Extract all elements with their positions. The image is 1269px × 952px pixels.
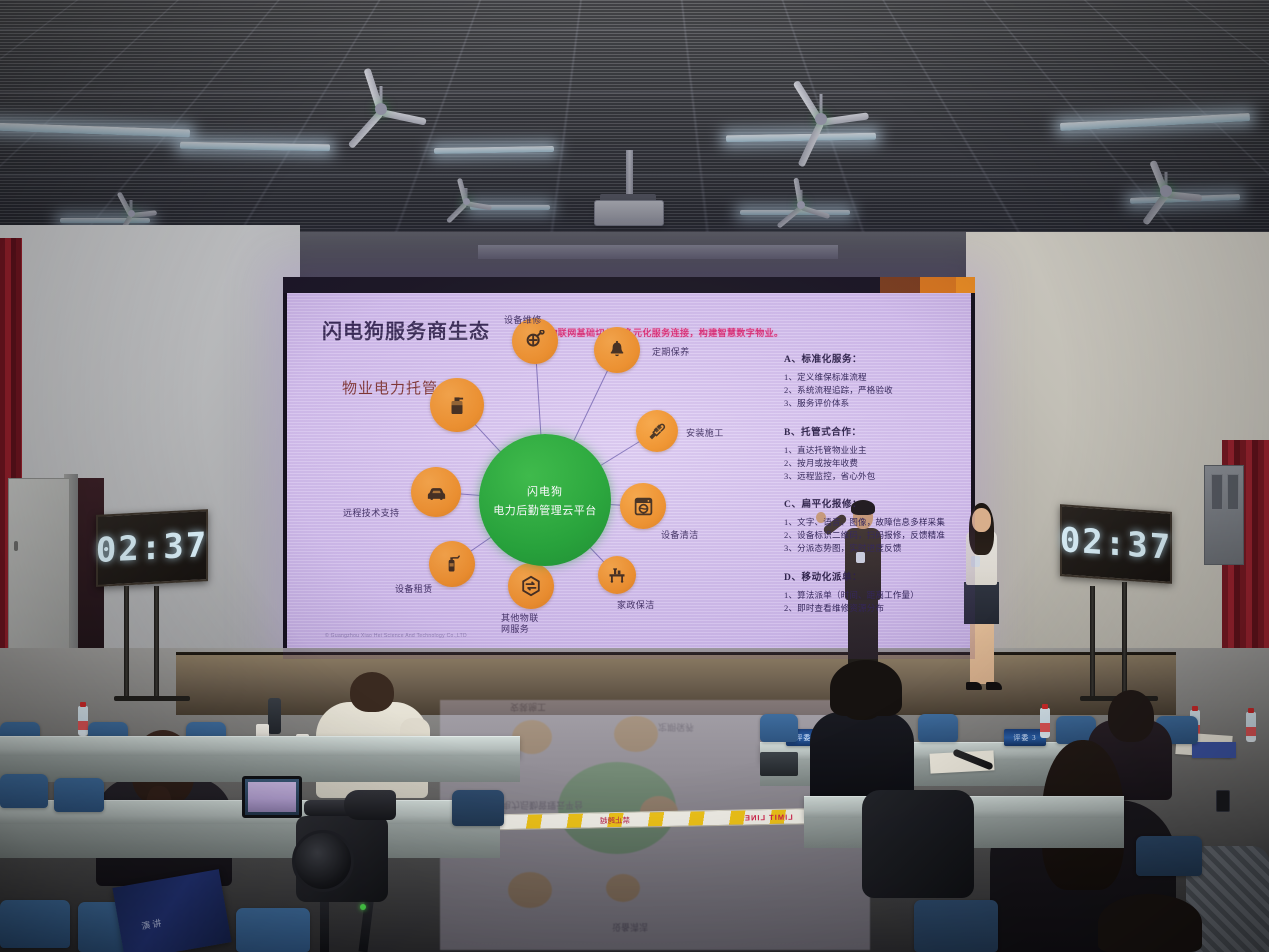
- presenter-female-badge: [971, 556, 980, 567]
- tripod-leg: [320, 894, 329, 952]
- slide-text-block-heading: D、移动化派单：: [784, 569, 964, 583]
- presenter-female-legs: [970, 622, 994, 684]
- clock-stand-leg: [1122, 582, 1127, 696]
- reflection-node: [606, 874, 640, 902]
- ceiling-fan: [130, 212, 132, 214]
- presenter-female-head: [972, 508, 991, 532]
- auditorium-chair[interactable]: [0, 900, 70, 948]
- paint-brush-icon: [647, 421, 667, 441]
- service-node-paint-brush-icon: [636, 410, 678, 452]
- slide-topbar-block: [880, 277, 920, 293]
- slide-text-block-line: 3、远程监控，省心外包: [784, 470, 964, 483]
- audience-hair: [830, 660, 902, 716]
- auditorium-chair[interactable]: [452, 790, 504, 826]
- auditorium-chair[interactable]: [1136, 836, 1202, 876]
- slide-text-block-line: 1、算法派单（时间、距离工作量）: [784, 589, 964, 602]
- water-bottle: [1246, 712, 1256, 742]
- service-node-label: 设备清洁: [661, 530, 699, 541]
- slide-text-block-line: 3、分派态势图，实时进度反馈: [784, 542, 964, 555]
- fire-extinguisher-icon: [442, 554, 462, 574]
- wall-cabinet: [8, 478, 70, 658]
- event-banner-text: 演讲: [140, 916, 164, 933]
- ceiling-fan: [820, 118, 822, 120]
- service-node-car-icon: [411, 467, 461, 517]
- slide-text-block-line: 1、文字、语音、图像，故障信息多样采集: [784, 516, 964, 529]
- hub-spoke-line: [536, 362, 542, 436]
- presenter-female-shoe: [986, 682, 1002, 690]
- service-node-label: 家政保洁: [617, 600, 655, 611]
- slide-text-block: A、标准化服务：1、定义维保标准流程2、系统流程追踪，严格验收3、服务评价体系: [784, 351, 964, 411]
- camera-viewfinder: [344, 790, 396, 820]
- ceiling: [0, 0, 1269, 248]
- hub-line-1: 闪电狗: [527, 483, 563, 499]
- audience-desk: [0, 736, 520, 758]
- right-wall-panel: [1204, 465, 1244, 565]
- auditorium-chair[interactable]: [0, 774, 48, 808]
- clock-time-left: 02:37: [96, 525, 208, 571]
- reflection-label: 安装施工: [510, 701, 546, 714]
- limit-line-text-cn: 禁止跨越: [600, 814, 630, 826]
- video-camera: [268, 756, 418, 952]
- slide-topbar-block: [920, 277, 956, 293]
- washing-machine-icon: [633, 496, 654, 517]
- slide-text-block-line: 2、系统流程追踪，严格验收: [784, 384, 964, 397]
- slide-text-block-heading: C、扁平化报修：: [784, 496, 964, 510]
- service-node-ink-bottle-icon: [430, 378, 484, 432]
- camera-lcd-preview: [248, 782, 296, 812]
- slide-text-column: A、标准化服务：1、定义维保标准流程2、系统流程追踪，严格验收3、服务评价体系B…: [784, 351, 964, 628]
- hub-spoke-line: [599, 441, 641, 467]
- auditorium-chair[interactable]: [760, 714, 798, 742]
- service-node-label: 安装施工: [686, 428, 724, 439]
- slide-text-block-line: 1、直达托管物业业主: [784, 444, 964, 457]
- slide-subtitle: 以物联网基础切入，多元化服务连接，构建智慧数字物业。: [539, 326, 783, 339]
- slide-text-block-line: 1、定义维保标准流程: [784, 371, 964, 384]
- slide-text-block: D、移动化派单：1、算法派单（时间、距离工作量）2、即时查看维修资源分布: [784, 569, 964, 615]
- auditorium-chair[interactable]: [918, 714, 958, 742]
- clock-stand-leg: [124, 586, 129, 696]
- screen-soffit: [478, 245, 838, 259]
- slide-title: 闪电狗服务商生态: [322, 315, 490, 344]
- service-node-bell-icon: [594, 327, 640, 373]
- document-paper: [1192, 742, 1236, 758]
- smartphone[interactable]: [1216, 790, 1230, 812]
- slide-canvas: 闪电狗服务商生态 以物联网基础切入，多元化服务连接，构建智慧数字物业。 物业电力…: [287, 293, 971, 655]
- hub-spoke-line: [459, 494, 481, 497]
- backpack: [862, 790, 974, 898]
- ceiling-fan: [1165, 190, 1167, 192]
- reflection-label: 定期保养: [658, 721, 694, 734]
- service-node-label: 远程技术支持: [343, 508, 399, 519]
- hexagon-exchange-icon: [520, 575, 542, 597]
- service-node-hexagon-exchange-icon: [508, 563, 554, 609]
- ceiling-shading: [0, 0, 1269, 248]
- audience-hair: [1098, 894, 1202, 952]
- hub-line-2: 电力后勤管理云平台: [493, 502, 597, 518]
- judge-nameplate-text: 评委 3: [1013, 733, 1036, 743]
- reflection-node: [508, 872, 552, 908]
- thermos-flask: [268, 698, 281, 734]
- water-bottle: [78, 706, 88, 736]
- slide-text-block-line: 3、服务评价体系: [784, 397, 964, 410]
- camera-lcd-screen[interactable]: [242, 776, 302, 818]
- slide-text-block-line: 2、按月或按年收费: [784, 457, 964, 470]
- led-presentation-screen: 闪电狗服务商生态 以物联网基础切入，多元化服务连接，构建智慧数字物业。 物业电力…: [283, 277, 975, 659]
- audience-hair: [1108, 690, 1154, 742]
- slide-topbar: [283, 277, 975, 293]
- clock-time-right: 02:37: [1060, 520, 1172, 568]
- ceiling-fan: [380, 108, 382, 110]
- audience-torso: [810, 712, 914, 802]
- service-node-label: 其他物联 网服务: [501, 613, 539, 636]
- clock-stand-leg: [1090, 586, 1095, 698]
- clock-display-panel: 02:37: [96, 509, 208, 587]
- reflection-label: 电力后勤管理云平台: [502, 799, 583, 812]
- service-node-cleaning-cart-icon: [598, 556, 636, 594]
- service-node-fire-extinguisher-icon: [429, 541, 475, 587]
- panel-pane: [1211, 474, 1223, 510]
- hub-node-cloud-platform: 闪电狗 电力后勤管理云平台: [479, 434, 611, 566]
- camera-record-indicator: [360, 904, 366, 910]
- slide-copyright: © Guangzhou Xiao Hei Science And Technol…: [325, 633, 467, 639]
- magnifier-gear-icon: [524, 330, 546, 352]
- auditorium-chair[interactable]: [54, 778, 104, 812]
- presenter-female-skirt: [964, 582, 999, 624]
- tripod-leg: [358, 894, 374, 952]
- slide-text-block-line: 2、设备标识二维码，扫码报修，反馈精准: [784, 529, 964, 542]
- panel-pane: [1227, 474, 1239, 510]
- limit-line-text: LIMIT LINE: [744, 812, 793, 822]
- service-node-label: 设备维修: [504, 315, 542, 326]
- hub-spoke-line: [469, 536, 493, 553]
- car-icon: [425, 481, 448, 504]
- slide-section-label: 物业电力托管: [342, 377, 438, 398]
- laptop[interactable]: [760, 752, 798, 776]
- slide-text-block-line: 2、即时查看维修资源分布: [784, 602, 964, 615]
- audience-hair: [350, 672, 394, 712]
- clock-stand-base: [114, 696, 190, 701]
- auditorium-scene: 闪电狗服务商生态 以物联网基础切入，多元化服务连接，构建智慧数字物业。 物业电力…: [0, 0, 1269, 952]
- presenter-female-shoe: [966, 682, 982, 690]
- judge-desk-front: [760, 760, 1080, 786]
- ink-bottle-icon: [445, 393, 469, 417]
- slide-topbar-block: [283, 277, 880, 293]
- camera-lens: [292, 830, 354, 892]
- slide-text-block-heading: A、标准化服务：: [784, 351, 964, 365]
- hub-spoke-line: [474, 424, 502, 454]
- audience-desk-front: [0, 824, 500, 858]
- auditorium-chair[interactable]: [914, 900, 998, 952]
- clock-display-panel: 02:37: [1060, 504, 1172, 584]
- ceiling-fan: [800, 204, 802, 206]
- slide-text-block: C、扁平化报修：1、文字、语音、图像，故障信息多样采集2、设备标识二维码，扫码报…: [784, 496, 964, 556]
- hub-spoke-line: [572, 369, 608, 443]
- bell-icon: [607, 340, 627, 360]
- slide-text-block-heading: B、托管式合作：: [784, 424, 964, 438]
- reflection-label: 设备清洁: [612, 921, 648, 934]
- clock-stand-leg: [154, 586, 159, 698]
- slide-text-block: B、托管式合作：1、直达托管物业业主2、按月或按年收费3、远程监控，省心外包: [784, 424, 964, 484]
- service-node-label: 设备租赁: [395, 584, 433, 595]
- cleaning-cart-icon: [608, 566, 626, 584]
- reflection-node: [614, 716, 658, 752]
- service-node-label: 定期保养: [652, 347, 690, 358]
- service-node-washing-machine-icon: [620, 483, 666, 529]
- ceiling-fan: [465, 200, 467, 202]
- water-bottle: [1040, 708, 1050, 738]
- slide-topbar-block: [956, 277, 975, 293]
